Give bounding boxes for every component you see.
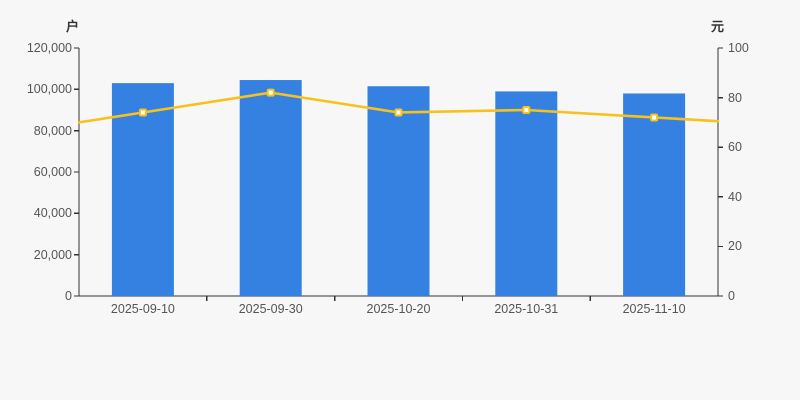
bar[interactable] (623, 93, 685, 296)
line-marker[interactable] (140, 109, 146, 115)
bar[interactable] (240, 80, 302, 296)
line-marker[interactable] (651, 114, 657, 120)
chart-plot-area (0, 0, 800, 400)
line-marker[interactable] (396, 109, 402, 115)
line-marker[interactable] (268, 90, 274, 96)
bar[interactable] (495, 91, 557, 296)
line-marker[interactable] (523, 107, 529, 113)
bar[interactable] (368, 86, 430, 296)
chart-container: 户 元 020,00040,00060,00080,000100,000120,… (0, 0, 800, 400)
